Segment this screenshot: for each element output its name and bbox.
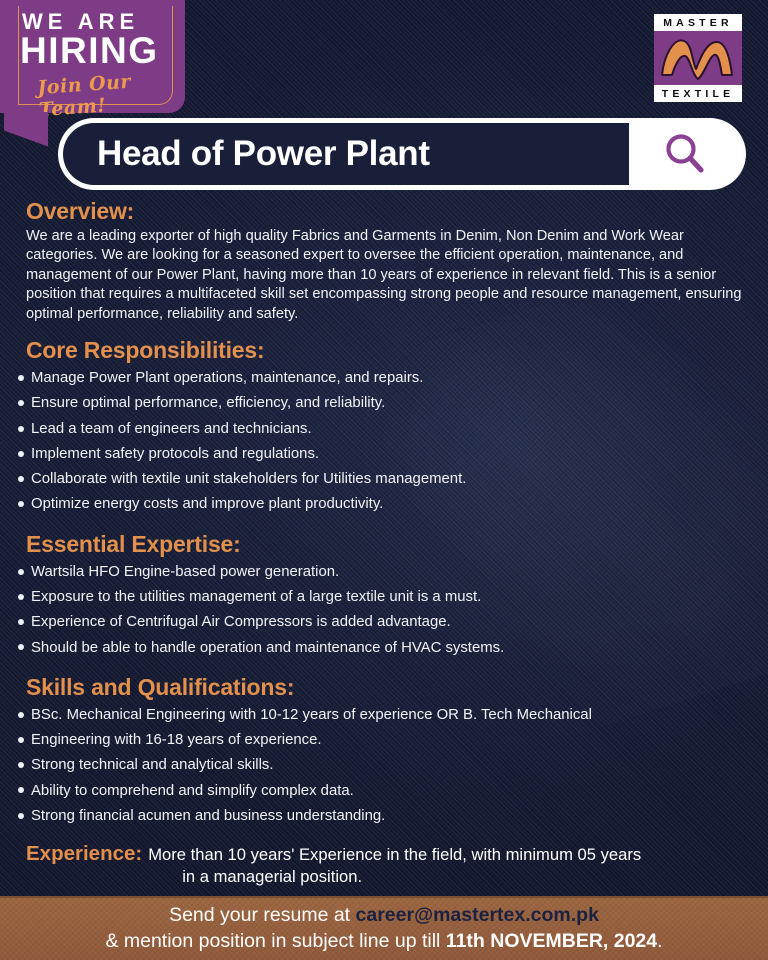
list-item: Optimize energy costs and improve plant … — [18, 492, 768, 517]
list-item: Engineering with 16-18 years of experien… — [18, 728, 768, 753]
skills-qualifications-heading: Skills and Qualifications: — [26, 674, 768, 701]
list-item: Ability to comprehend and simplify compl… — [18, 778, 768, 803]
overview-paragraph: We are a leading exporter of high qualit… — [26, 227, 742, 324]
footer-period: . — [657, 930, 662, 952]
list-item: Should be able to handle operation and m… — [18, 635, 768, 660]
list-item: Implement safety protocols and regulatio… — [18, 442, 768, 467]
overview-heading: Overview: — [26, 198, 768, 225]
logo-m-icon — [658, 31, 738, 85]
experience-line-2: in a managerial position. — [182, 866, 641, 888]
list-item: Exposure to the utilities management of … — [18, 585, 768, 610]
we-are-hiring-badge: WE ARE HIRING Join Our Team! — [0, 0, 185, 113]
job-title-text: Head of Power Plant — [97, 134, 430, 174]
experience-line-1: More than 10 years' Experience in the fi… — [148, 845, 641, 864]
badge-tail — [4, 112, 48, 162]
list-item: Wartsila HFO Engine-based power generati… — [18, 560, 768, 585]
experience-row: Experience: More than 10 years' Experien… — [26, 842, 768, 888]
footer-subject-prefix: & mention position in subject line up ti… — [105, 930, 445, 952]
job-title-field: Head of Power Plant — [63, 123, 629, 185]
magnifier-icon — [662, 131, 708, 177]
badge-line-2: HIRING — [20, 32, 159, 69]
core-responsibilities-list: Manage Power Plant operations, maintenan… — [18, 366, 768, 518]
apply-email[interactable]: career@mastertex.com.pk — [356, 904, 599, 926]
logo-text-textile: TEXTILE — [654, 85, 742, 102]
core-responsibilities-heading: Core Responsibilities: — [26, 337, 768, 364]
essential-expertise-heading: Essential Expertise: — [26, 531, 768, 558]
experience-label: Experience: — [26, 842, 142, 866]
job-posting-poster: WE ARE HIRING Join Our Team! MASTER TEXT… — [0, 0, 768, 960]
search-button[interactable] — [629, 123, 741, 185]
master-textile-logo: MASTER TEXTILE — [654, 14, 742, 102]
job-title-search-bar: Head of Power Plant — [58, 118, 746, 190]
experience-value: More than 10 years' Experience in the fi… — [148, 842, 641, 888]
application-deadline: 11th NOVEMBER, 2024 — [446, 930, 657, 952]
skills-qualifications-list: BSc. Mechanical Engineering with 10-12 y… — [18, 703, 768, 829]
posting-body: Overview: We are a leading exporter of h… — [0, 198, 768, 921]
list-item: Strong technical and analytical skills. — [18, 753, 768, 778]
footer-line-1: Send your resume at career@mastertex.com… — [169, 903, 599, 929]
footer-line-2: & mention position in subject line up ti… — [105, 929, 662, 955]
list-item: Strong financial acumen and business und… — [18, 804, 768, 829]
essential-expertise-list: Wartsila HFO Engine-based power generati… — [18, 560, 768, 661]
footer-resume-prefix: Send your resume at — [169, 904, 355, 926]
list-item: Collaborate with textile unit stakeholde… — [18, 467, 768, 492]
apply-footer: Send your resume at career@mastertex.com… — [0, 896, 768, 960]
list-item: Manage Power Plant operations, maintenan… — [18, 366, 768, 391]
list-item: Lead a team of engineers and technicians… — [18, 417, 768, 442]
logo-mark-background — [654, 31, 742, 85]
list-item: BSc. Mechanical Engineering with 10-12 y… — [18, 703, 768, 728]
list-item: Experience of Centrifugal Air Compressor… — [18, 610, 768, 635]
logo-text-master: MASTER — [654, 14, 742, 31]
badge-tagline: Join Our Team! — [37, 67, 187, 121]
list-item: Ensure optimal performance, efficiency, … — [18, 391, 768, 416]
